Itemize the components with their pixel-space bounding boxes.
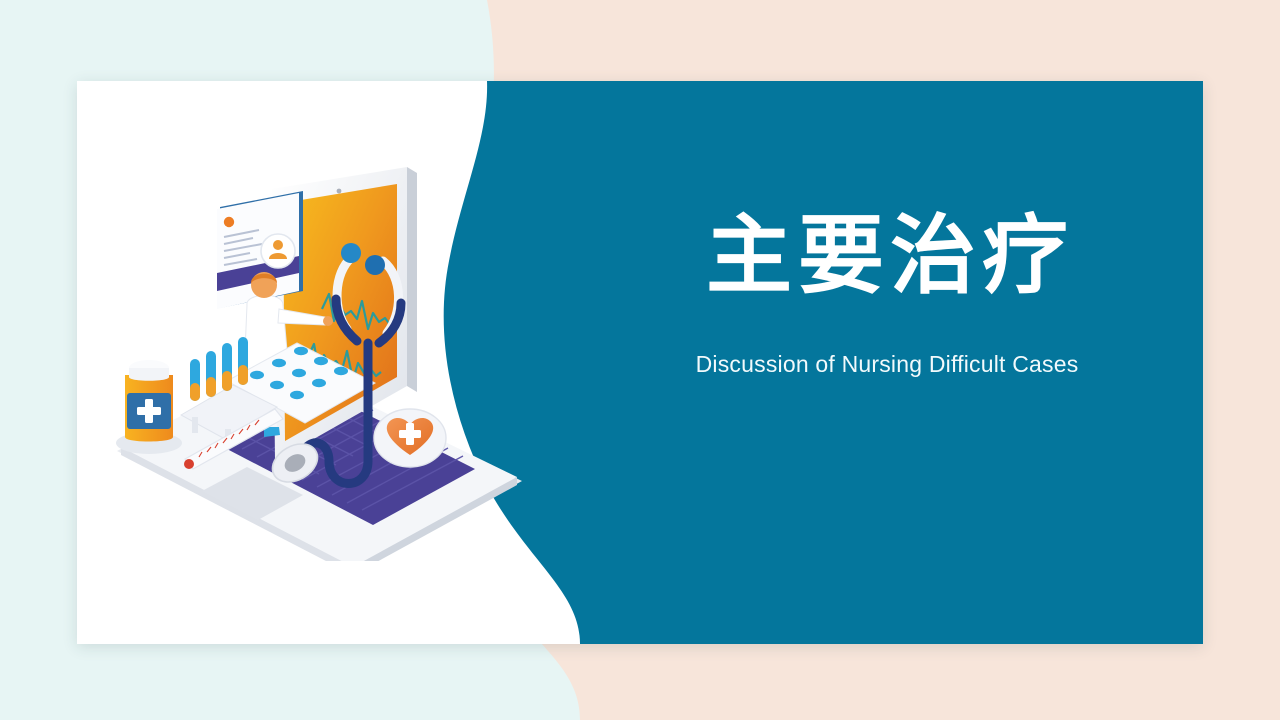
stethoscope-eartip-left [341,243,361,263]
title-block: 主要治疗 Discussion of Nursing Difficult Cas… [597,211,1177,380]
popup-avatar-circle [261,234,295,268]
page-subtitle: Discussion of Nursing Difficult Cases [597,350,1177,380]
webcam-dot [337,189,342,194]
thermometer-bulb [184,459,194,469]
pill-bottle [116,360,182,454]
heart-cross-icon [374,409,446,467]
doctor-hand [323,316,333,326]
stethoscope-eartip-right [365,255,385,275]
popup-alert-icon [224,217,234,227]
page-title: 主要治疗 [597,211,1177,301]
slide-card: 主要治疗 Discussion of Nursing Difficult Cas… [77,81,1203,644]
medical-laptop-illustration [107,161,537,561]
slide-root: 主要治疗 Discussion of Nursing Difficult Cas… [0,0,1280,720]
pill-bottle-cap-body [129,368,169,381]
screen-frame-edge [407,167,417,392]
